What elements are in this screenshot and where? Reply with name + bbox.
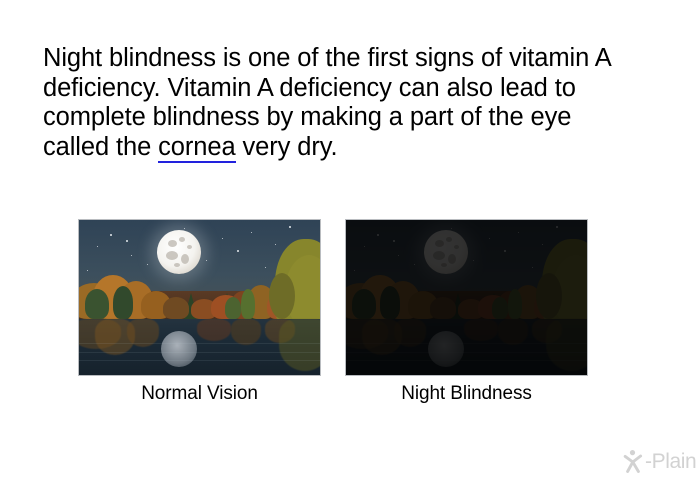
figure-normal-vision: Normal Vision [78, 219, 321, 376]
star [265, 267, 266, 268]
conifer-clump [241, 289, 255, 319]
tree-reflection [498, 319, 528, 345]
moon-crater [168, 240, 177, 247]
image-night-blindness[interactable] [345, 219, 588, 376]
moon-crater [454, 245, 459, 249]
moon-crater [435, 240, 444, 247]
logo-text: -Plain [645, 451, 696, 472]
x-plain-figure-icon [623, 449, 645, 473]
star [87, 270, 88, 271]
star [354, 270, 355, 271]
olive-tree-edge [536, 273, 562, 319]
moon [157, 230, 201, 274]
conifer-clump [508, 289, 522, 319]
moon-crater [166, 251, 178, 260]
moon-crater [179, 237, 185, 242]
star [364, 246, 365, 247]
water [346, 319, 587, 375]
moon [424, 230, 468, 274]
water-ripple [79, 343, 320, 344]
star [131, 255, 132, 256]
cornea-link[interactable]: cornea [158, 133, 235, 163]
star [504, 250, 506, 252]
star [532, 267, 533, 268]
olive-tree-reflection [546, 319, 587, 371]
star [451, 228, 452, 229]
star [184, 228, 185, 229]
moon-crater [441, 263, 447, 267]
star [377, 234, 379, 236]
star [126, 240, 128, 242]
moon-crater [433, 251, 445, 260]
figure-night-blindness: Night Blindness [345, 219, 588, 376]
star [110, 234, 112, 236]
water-ripple [346, 352, 587, 353]
star [473, 260, 474, 261]
star [518, 232, 519, 233]
star [542, 244, 543, 245]
conifer-clump [113, 286, 133, 319]
x-plain-logo: -Plain [623, 448, 696, 474]
water-ripple [346, 360, 587, 361]
scene-dim [346, 220, 587, 375]
star [398, 255, 399, 256]
star [414, 264, 415, 265]
water-ripple [346, 343, 587, 344]
conifer-clump [225, 297, 241, 319]
conifer-clump [85, 289, 109, 319]
figure-row: Normal Vision [0, 219, 700, 414]
moon-crater [174, 263, 180, 267]
star [206, 260, 207, 261]
caption-night-blindness: Night Blindness [345, 383, 588, 405]
conifer-clump [492, 297, 508, 319]
tree-reflection [197, 319, 231, 341]
water-ripple [79, 352, 320, 353]
body-paragraph: Night blindness is one of the first sign… [43, 44, 643, 162]
star [556, 226, 558, 228]
tree-reflection [464, 319, 498, 341]
water [79, 319, 320, 375]
star [222, 238, 223, 239]
star [489, 238, 490, 239]
image-normal-vision[interactable] [78, 219, 321, 376]
moon-reflection [161, 331, 197, 367]
star [393, 240, 395, 242]
autumn-tree [430, 297, 456, 319]
autumn-tree [163, 297, 189, 319]
conifer-clump [352, 289, 376, 319]
tree-reflection [231, 319, 261, 345]
moon-crater [187, 245, 192, 249]
olive-tree-reflection [279, 319, 320, 371]
conifer-clump [380, 286, 400, 319]
star [251, 232, 252, 233]
star [275, 244, 276, 245]
star [289, 226, 291, 228]
water-ripple [79, 360, 320, 361]
star [97, 246, 98, 247]
moon-reflection [428, 331, 464, 367]
moon-crater [446, 237, 452, 242]
olive-tree-edge [269, 273, 295, 319]
moon-crater [448, 254, 456, 264]
caption-normal-vision: Normal Vision [78, 383, 321, 405]
star [147, 264, 148, 265]
scene-normal [79, 220, 320, 375]
moon-crater [181, 254, 189, 264]
star [237, 250, 239, 252]
paragraph-part-two: very dry. [236, 133, 338, 161]
